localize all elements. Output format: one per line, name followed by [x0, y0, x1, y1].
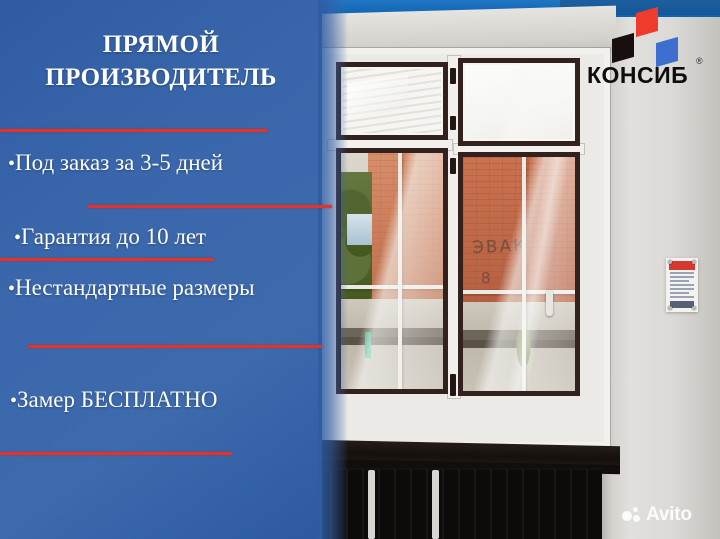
- divider-rule: [28, 345, 322, 348]
- bullet-item-4: •Замер БЕСПЛАТНО: [10, 386, 217, 414]
- window-view-right: ЭВАК 8: [463, 157, 575, 391]
- notice-text-line: [670, 276, 694, 278]
- wall-notice-poster: [666, 258, 698, 312]
- bullet-marker: •: [10, 390, 17, 412]
- divider-rule: [0, 258, 214, 261]
- bullet-marker: •: [14, 227, 21, 249]
- notice-text-line: [670, 292, 689, 294]
- logo-rhomb-black-icon: [612, 33, 634, 63]
- view-green-bin: [365, 332, 370, 358]
- logo-wordmark: КОНСИБ: [587, 62, 705, 89]
- window-view-left: [341, 153, 443, 389]
- glazing-bar-vertical: [522, 157, 526, 391]
- advertisement-poster: ЭВАК 8 КО: [0, 0, 720, 539]
- bullet-item-1: •Под заказ за 3-5 дней: [8, 149, 223, 177]
- notice-text-line: [670, 284, 694, 286]
- window-sash-upper-right: [458, 58, 580, 146]
- glazing-bar-horizontal: [341, 285, 443, 289]
- avito-watermark: Avito: [622, 504, 692, 526]
- view-railing: [341, 337, 443, 345]
- bullet-text: Под заказ за 3-5 дней: [15, 150, 223, 175]
- bullet-marker: •: [8, 278, 15, 300]
- konsib-logo: КОНСИБ ®: [586, 6, 712, 90]
- window-hinge-icon: [450, 374, 456, 396]
- logo-rhomb-red-icon: [636, 7, 658, 37]
- headline-line-1: ПРЯМОЙ: [103, 31, 219, 58]
- bullet-marker: •: [8, 153, 15, 175]
- view-graffiti-text: ЭВАК: [472, 236, 528, 258]
- divider-rule: [0, 452, 232, 455]
- view-blue-building: [347, 214, 371, 245]
- bullet-item-3: •Нестандартные размеры: [8, 274, 258, 302]
- notice-text-line: [670, 288, 694, 290]
- radiator-pipe: [432, 470, 439, 539]
- window-sash-upper-left: [336, 62, 448, 140]
- notice-pin-icon: [668, 306, 672, 310]
- radiator-pipe: [368, 470, 375, 539]
- notice-text-line: [670, 296, 694, 298]
- notice-text-line: [670, 272, 694, 274]
- window-sash-lower-left: [336, 148, 448, 394]
- registered-trademark-icon: ®: [696, 56, 703, 66]
- divider-rule: [0, 129, 268, 132]
- notice-pin-icon: [668, 260, 672, 264]
- window-handle[interactable]: [546, 290, 553, 316]
- glass-reflection: [463, 63, 575, 141]
- notice-pin-icon: [692, 260, 696, 264]
- headline: ПРЯМОЙ ПРОИЗВОДИТЕЛЬ: [0, 28, 322, 94]
- view-brick-wall: [463, 157, 575, 302]
- avito-dots-icon: [622, 507, 641, 524]
- bullet-text: Замер БЕСПЛАТНО: [17, 387, 217, 412]
- divider-rule: [88, 205, 332, 208]
- pvc-window: ЭВАК 8: [320, 48, 610, 448]
- glazing-bar-horizontal: [463, 290, 575, 294]
- window-hinge-icon: [450, 68, 456, 84]
- notice-pin-icon: [692, 306, 696, 310]
- view-graffiti-text-2: 8: [481, 269, 493, 287]
- bullet-text: Гарантия до 10 лет: [21, 224, 206, 249]
- window-hinge-icon: [450, 158, 456, 174]
- window-sash-lower-right: ЭВАК 8: [458, 152, 580, 396]
- bullet-item-2: •Гарантия до 10 лет: [14, 223, 206, 251]
- window-hinge-icon: [450, 116, 456, 130]
- blue-panel-fade-edge: [318, 0, 348, 539]
- bullet-text: Нестандартные размеры: [15, 275, 255, 300]
- avito-wordmark: Avito: [646, 504, 692, 526]
- notice-footer-band: [670, 301, 694, 308]
- headline-line-2: ПРОИЗВОДИТЕЛЬ: [0, 61, 322, 94]
- glazing-bar-vertical: [398, 153, 402, 389]
- notice-text-line: [670, 280, 689, 282]
- radiator: [316, 470, 602, 539]
